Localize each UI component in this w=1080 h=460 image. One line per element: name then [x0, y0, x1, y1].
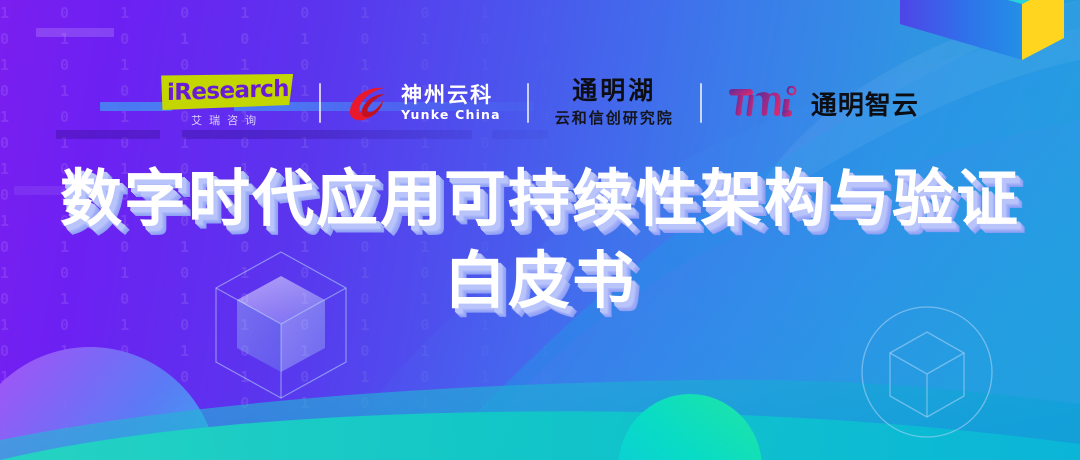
logo-iresearch[interactable]: iResearch 艾瑞咨询	[161, 72, 293, 134]
logo-yunke[interactable]: 神州云科 Yunke China	[347, 83, 501, 123]
binary-row: 0 1 0 1 0 1 0 1 0 1 0 1 0 1 0 1 0 1 0 1 …	[0, 390, 620, 416]
whitepaper-cover-banner: 1 0 1 0 1 0 1 0 1 0 1 0 1 0 1 0 1 0 1 0 …	[0, 0, 1080, 460]
tmi-brushstroke-icon	[728, 86, 802, 120]
title-line-1: 数字时代应用可持续性架构与验证	[0, 160, 1080, 238]
binary-row: 1 0 1 0 1 0 1 0 1 0 1 0 1 0 1 0 1 0 1 0 …	[0, 0, 620, 26]
logo-tmi[interactable]: 通明智云	[728, 85, 919, 122]
yunke-swirl-icon	[347, 83, 393, 123]
iresearch-chinese-name: 艾瑞咨询	[163, 112, 291, 128]
logo-tongminghu[interactable]: 通明湖 云和信创研究院	[555, 77, 674, 129]
iresearch-wordmark: iResearch	[167, 75, 291, 107]
yunke-chinese-name: 神州云科	[401, 84, 501, 106]
binary-row: 0 1 0 1 0 1 0 1 0 1 0 1 0 1 0 1 0 1 0 1 …	[0, 338, 620, 364]
logo-divider-2	[527, 83, 529, 123]
tongminghu-institute-name: 云和信创研究院	[555, 107, 674, 129]
title-line-2: 白皮书	[0, 242, 1080, 320]
tmi-chinese-name: 通明智云	[811, 85, 919, 122]
binary-row: 1 0 1 0 1 0 1 0 1 0 1 0 1 0 1 0 1 0 1 0 …	[0, 416, 620, 442]
yunke-english-name: Yunke China	[401, 107, 501, 123]
binary-row: 1 0 1 0 1 0 1 0 1 0 1 0 1 0 1 0 1 0 1 0 …	[0, 364, 620, 390]
binary-row: 0 1 0 1 0 1 0 1 0 1 0 1 0 1 0 1 0 1 0 1 …	[0, 442, 620, 460]
page-title: 数字时代应用可持续性架构与验证 白皮书	[0, 160, 1080, 320]
circle-bottom-center	[618, 394, 762, 460]
tongminghu-name: 通明湖	[555, 77, 674, 105]
partner-logo-bar: iResearch 艾瑞咨询 神州云科 Yunke China 通明	[0, 70, 1080, 136]
logo-divider-3	[700, 83, 702, 123]
logo-divider-1	[319, 83, 321, 123]
